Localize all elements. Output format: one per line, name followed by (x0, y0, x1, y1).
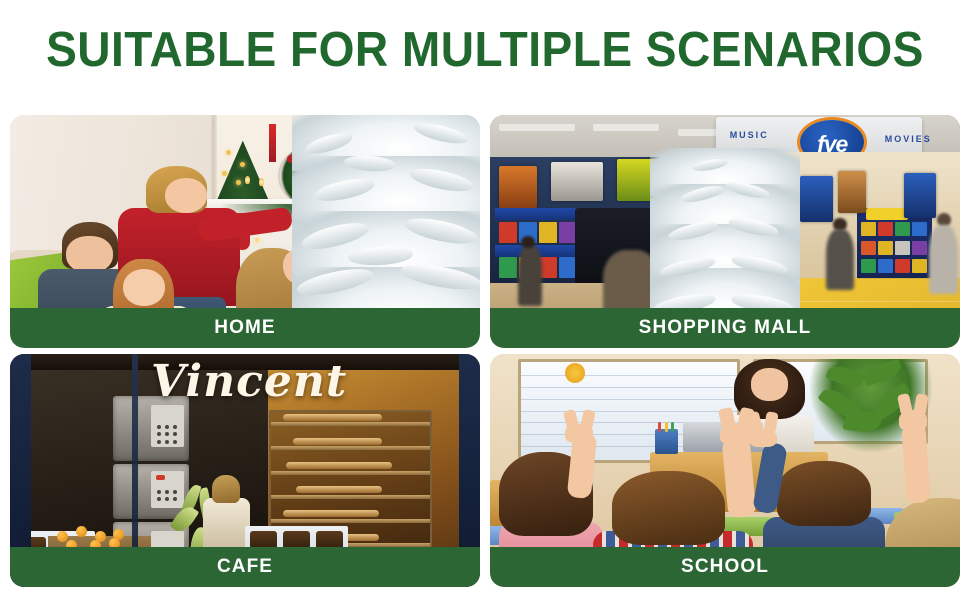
mall-ceiling-light (499, 124, 574, 131)
mall-endcap-row (861, 222, 927, 236)
card-label-home: HOME (10, 308, 480, 348)
store-sign-left-word: MUSIC (730, 130, 769, 140)
student-arm (901, 423, 930, 504)
home-flame-icon (259, 178, 264, 186)
mall-shopper (826, 229, 854, 290)
scenario-card-home[interactable]: HOME (10, 115, 480, 348)
card-label-shopping-mall: SHOPPING MALL (490, 308, 960, 348)
mall-endcap-row (861, 259, 927, 273)
mall-endcap-row (861, 241, 927, 255)
card-label-cafe: CAFE (10, 547, 480, 587)
mall-poster (800, 176, 833, 223)
mall-poster (499, 166, 537, 208)
mall-poster (838, 171, 866, 213)
pencil-cup (655, 429, 679, 455)
teacher-face (751, 368, 789, 401)
store-sign-right-word: MOVIES (885, 134, 932, 144)
mall-shopper (518, 245, 542, 306)
mall-price-tag (866, 208, 908, 220)
home-ornament-icon (222, 171, 227, 176)
home-boy-face (165, 178, 207, 213)
student-hair (777, 461, 871, 526)
mall-poster (551, 162, 603, 202)
scenario-card-cafe[interactable]: Vincent CAFE (10, 354, 480, 587)
page-title: SUITABLE FOR MULTIPLE SCENARIOS (29, 22, 941, 78)
cafe-orange-icon (57, 531, 68, 542)
mall-shopper-head (521, 236, 535, 248)
home-ornament-icon (240, 162, 245, 167)
scenarios-page: SUITABLE FOR MULTIPLE SCENARIOS (0, 0, 970, 600)
card-label-school: SCHOOL (490, 547, 960, 587)
home-father-face (66, 236, 113, 273)
home-ornament-icon (236, 180, 241, 185)
home-candle-icon (269, 124, 276, 161)
mall-poster (904, 173, 937, 217)
scenario-card-school[interactable]: SCHOOL (490, 354, 960, 587)
mall-shopper (929, 225, 957, 295)
cafe-staff-hair (212, 475, 240, 503)
scenario-card-grid: HOME MUSIC fye MOVIES (10, 115, 960, 587)
cafe-staff-body (203, 498, 250, 549)
home-girl-face (123, 269, 165, 306)
cafe-oven-control-panel (151, 405, 184, 447)
cafe-storefront-script: Vincent (151, 356, 347, 407)
mall-ceiling-light (593, 124, 659, 131)
student-hair (612, 471, 725, 546)
scenario-card-shopping-mall[interactable]: MUSIC fye MOVIES (490, 115, 960, 348)
cafe-oven-red-button-icon (156, 475, 165, 480)
home-flame-icon (245, 176, 250, 184)
